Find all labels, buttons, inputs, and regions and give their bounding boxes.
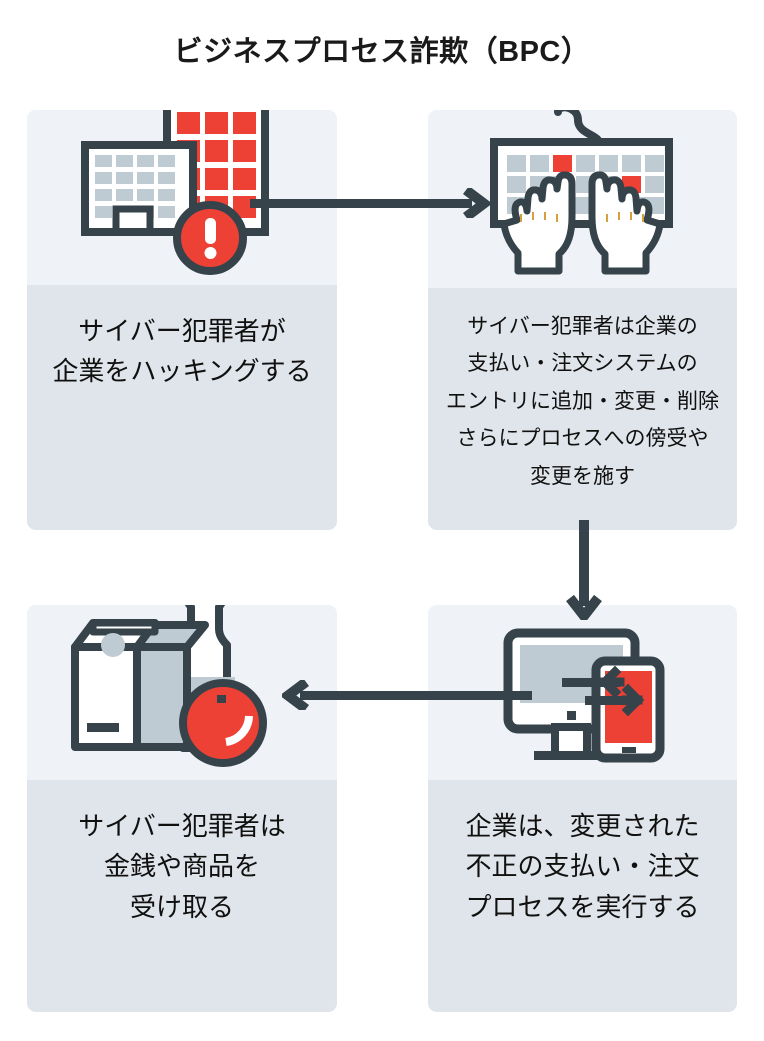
- step-2-caption-line-4: さらにプロセスへの傍受や: [457, 420, 709, 457]
- step-1-caption-line-1: サイバー犯罪者が: [78, 311, 285, 351]
- step-4-caption: サイバー犯罪者は 金銭や商品を 受け取る: [27, 780, 337, 1012]
- step-2-caption-line-1: サイバー犯罪者は企業の: [467, 308, 698, 345]
- step-4-caption-line-2: 金銭や商品を: [104, 846, 260, 886]
- step-card-1: サイバー犯罪者が 企業をハッキングする: [27, 110, 337, 530]
- step-4-caption-line-3: 受け取る: [130, 887, 234, 927]
- step-1-caption-line-2: 企業をハッキングする: [52, 351, 311, 391]
- step-3-caption: 企業は、変更された 不正の支払い・注文 プロセスを実行する: [428, 780, 737, 1012]
- step-1-caption: サイバー犯罪者が 企業をハッキングする: [27, 285, 337, 530]
- step-4-caption-line-1: サイバー犯罪者は: [78, 806, 285, 846]
- step-card-3: 企業は、変更された 不正の支払い・注文 プロセスを実行する: [428, 605, 737, 1012]
- step-2-caption-line-3: エントリに追加・変更・削除: [446, 383, 719, 420]
- arrow-right-icon: [250, 188, 490, 218]
- arrow-left-icon: [282, 680, 532, 710]
- step-3-caption-line-1: 企業は、変更された: [465, 806, 699, 846]
- step-2-caption-line-5: 変更を施す: [530, 458, 635, 495]
- bpc-infographic: ビジネスプロセス詐欺（BPC）: [0, 0, 764, 1041]
- step-card-2: サイバー犯罪者は企業の 支払い・注文システムの エントリに追加・変更・削除 さら…: [428, 110, 737, 530]
- step-3-caption-line-3: プロセスを実行する: [465, 887, 699, 927]
- step-card-4: サイバー犯罪者は 金銭や商品を 受け取る: [27, 605, 337, 1012]
- arrow-down-icon: [566, 520, 602, 620]
- page-title: ビジネスプロセス詐欺（BPC）: [0, 28, 764, 70]
- step-3-caption-line-2: 不正の支払い・注文: [465, 846, 699, 886]
- step-2-caption-line-2: 支払い・注文システムの: [467, 345, 697, 382]
- step-2-caption: サイバー犯罪者は企業の 支払い・注文システムの エントリに追加・変更・削除 さら…: [428, 288, 737, 530]
